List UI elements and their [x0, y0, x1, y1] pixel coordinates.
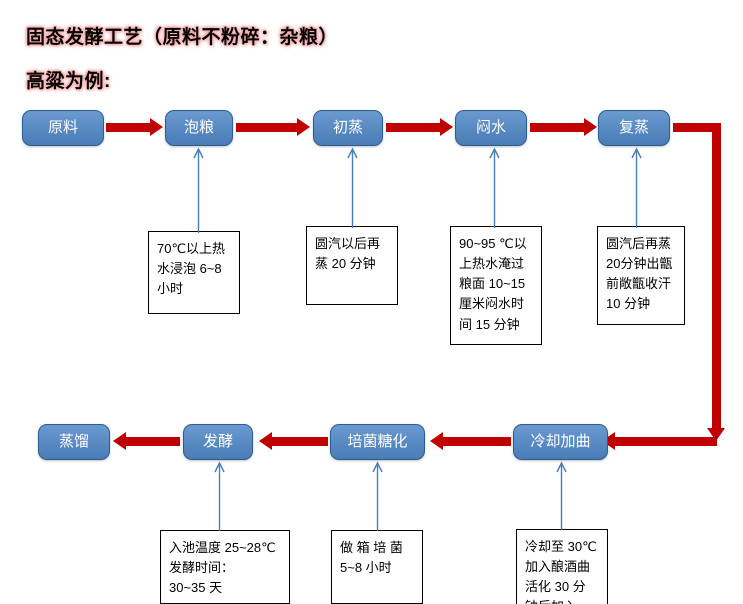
note-line: 70℃以上热	[157, 239, 233, 259]
arrow-cool-add-qu-to-culture-head	[430, 432, 443, 450]
process-box-ferment[interactable]: 发酵	[183, 424, 253, 460]
note-box-cool-add-qu: 冷却至 30℃ 加入酿酒曲 活化 30 分 钟后加入	[516, 529, 608, 604]
process-box-re-steam[interactable]: 复蒸	[598, 110, 670, 146]
note-box-simmer-water: 90~95 ℃以 上热水淹过 粮面 10~15 厘米闷水时 间 15 分钟	[450, 226, 542, 345]
note-line: 蒸 20 分钟	[315, 254, 391, 274]
process-box-soak-grain[interactable]: 泡粮	[165, 110, 233, 146]
note-line: 入池温度 25~28℃	[169, 538, 283, 558]
note-box-soak-grain: 70℃以上热 水浸泡 6~8 小时	[148, 231, 240, 314]
note-connector-cool-add-qu	[556, 461, 567, 530]
note-line: 活化 30 分	[525, 577, 601, 597]
wrap-connector-bottom-shaft	[612, 437, 717, 446]
note-line: 粮面 10~15	[459, 274, 535, 294]
flowchart-canvas: 固态发酵工艺（原料不粉碎：杂粮） 高粱为例: 原料 泡粮 初蒸 闷水 复蒸 70…	[0, 0, 743, 604]
note-connector-re-steam	[631, 147, 642, 228]
arrow-raw-material-to-soak-grain-shaft	[106, 123, 152, 132]
note-connector-first-steam	[347, 147, 358, 228]
process-box-cool-add-qu[interactable]: 冷却加曲	[513, 424, 608, 460]
arrow-soak-grain-to-first-steam-shaft	[236, 123, 298, 132]
page-subtitle: 高粱为例:	[26, 66, 111, 93]
arrow-first-steam-to-simmer-water-head	[440, 118, 453, 136]
note-line: 水浸泡 6~8	[157, 259, 233, 279]
arrow-ferment-to-distill-head	[113, 432, 126, 450]
arrow-raw-material-to-soak-grain-head	[150, 118, 163, 136]
arrow-culture-to-ferment-head	[259, 432, 272, 450]
note-box-first-steam: 圆汽以后再 蒸 20 分钟	[306, 226, 398, 305]
note-connector-culture-saccharify	[372, 461, 383, 531]
process-box-distill[interactable]: 蒸馏	[38, 424, 110, 460]
note-connector-simmer-water	[489, 147, 500, 228]
page-title: 固态发酵工艺（原料不粉碎：杂粮）	[26, 22, 338, 49]
wrap-connector-vertical-shaft	[712, 123, 721, 433]
note-box-re-steam: 圆汽后再蒸 20分钟出甑 前敞甑收汗 10 分钟	[597, 226, 685, 325]
note-line: 钟后加入	[525, 597, 601, 604]
process-box-simmer-water[interactable]: 闷水	[455, 110, 527, 146]
arrow-simmer-water-to-re-steam-head	[584, 118, 597, 136]
note-line: 小时	[157, 279, 233, 299]
arrow-soak-grain-to-first-steam-head	[297, 118, 310, 136]
process-box-raw-material[interactable]: 原料	[22, 110, 104, 146]
note-line: 上热水淹过	[459, 254, 535, 274]
process-box-first-steam[interactable]: 初蒸	[313, 110, 383, 146]
note-line: 20分钟出甑	[606, 254, 678, 274]
note-line: 前敞甑收汗	[606, 274, 678, 294]
note-line: 5~8 小时	[340, 558, 416, 578]
arrow-culture-to-ferment-shaft	[272, 437, 328, 446]
arrow-first-steam-to-simmer-water-shaft	[386, 123, 442, 132]
note-line: 冷却至 30℃	[525, 537, 601, 557]
note-line: 发酵时间：	[169, 558, 283, 578]
note-line: 30~35 天	[169, 578, 283, 598]
note-line: 厘米闷水时	[459, 294, 535, 314]
note-box-culture-saccharify: 做 箱 培 菌 5~8 小时	[331, 530, 423, 604]
note-line: 加入酿酒曲	[525, 557, 601, 577]
note-line: 做 箱 培 菌	[340, 538, 416, 558]
note-line: 圆汽后再蒸	[606, 234, 678, 254]
arrow-simmer-water-to-re-steam-shaft	[530, 123, 586, 132]
note-connector-soak-grain	[193, 147, 204, 233]
note-box-ferment: 入池温度 25~28℃ 发酵时间： 30~35 天	[160, 530, 290, 604]
note-line: 圆汽以后再	[315, 234, 391, 254]
note-line: 间 15 分钟	[459, 315, 535, 335]
arrow-cool-add-qu-to-culture-shaft	[443, 437, 511, 446]
process-box-culture-saccharify[interactable]: 培菌糖化	[330, 424, 425, 460]
note-connector-ferment	[214, 461, 225, 531]
note-line: 10 分钟	[606, 294, 678, 314]
note-line: 90~95 ℃以	[459, 234, 535, 254]
arrow-ferment-to-distill-shaft	[126, 437, 180, 446]
